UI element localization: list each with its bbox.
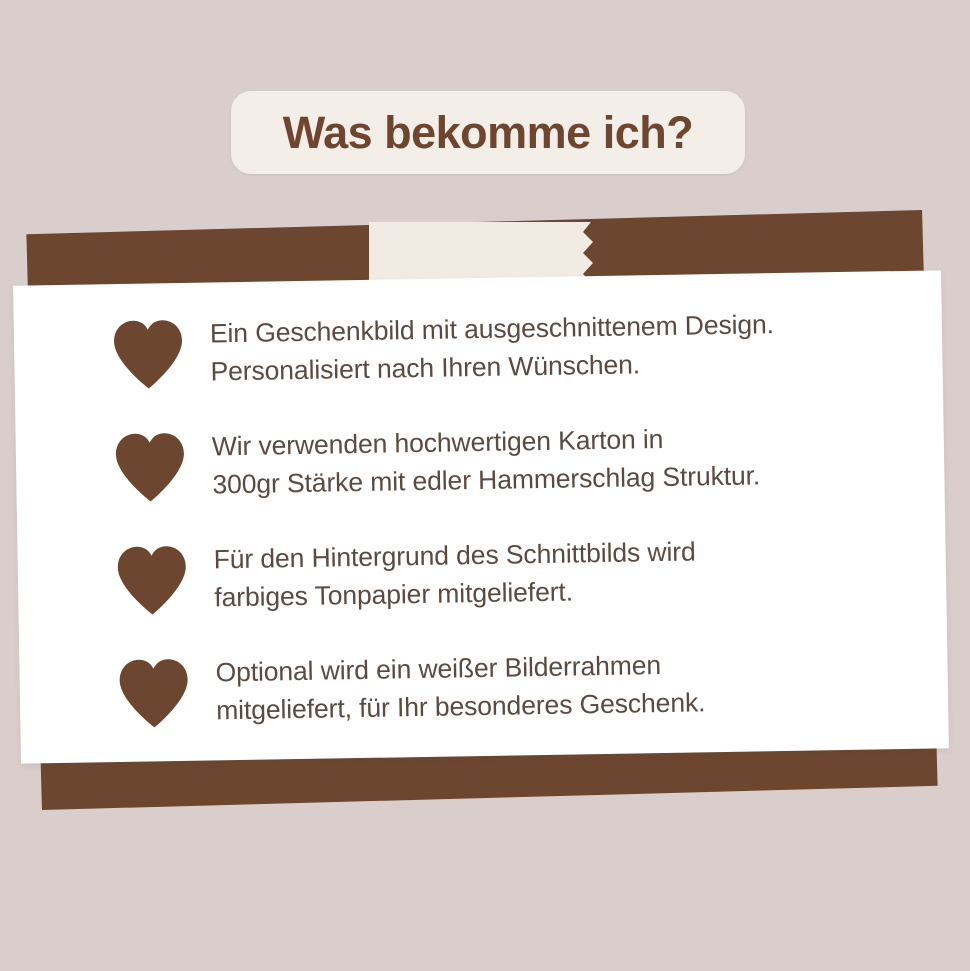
list-item: Ein Geschenkbild mit ausgeschnittenem De…: [112, 303, 904, 429]
heart-icon: [117, 658, 190, 729]
list-item-text: Für den Hintergrund des Schnittbilds wir…: [213, 529, 906, 616]
promo-graphic: Ein Geschenkbild mit ausgeschnittenem De…: [0, 0, 970, 971]
page-title-pill: Was bekomme ich?: [231, 91, 745, 174]
benefit-list: Ein Geschenkbild mit ausgeschnittenem De…: [112, 303, 909, 768]
list-item-text: Wir verwenden hochwertigen Karton in 300…: [211, 416, 904, 503]
page-title: Was bekomme ich?: [283, 110, 693, 155]
list-item: Für den Hintergrund des Schnittbilds wir…: [115, 529, 907, 655]
heart-icon: [114, 432, 187, 503]
list-item: Wir verwenden hochwertigen Karton in 300…: [113, 416, 905, 542]
list-item-text: Ein Geschenkbild mit ausgeschnittenem De…: [210, 303, 903, 390]
list-item-text: Optional wird ein weißer Bilderrahmen mi…: [215, 642, 908, 729]
content-card: Ein Geschenkbild mit ausgeschnittenem De…: [13, 270, 949, 763]
heart-icon: [115, 545, 188, 616]
heart-icon: [112, 319, 185, 390]
list-item: Optional wird ein weißer Bilderrahmen mi…: [117, 642, 909, 768]
